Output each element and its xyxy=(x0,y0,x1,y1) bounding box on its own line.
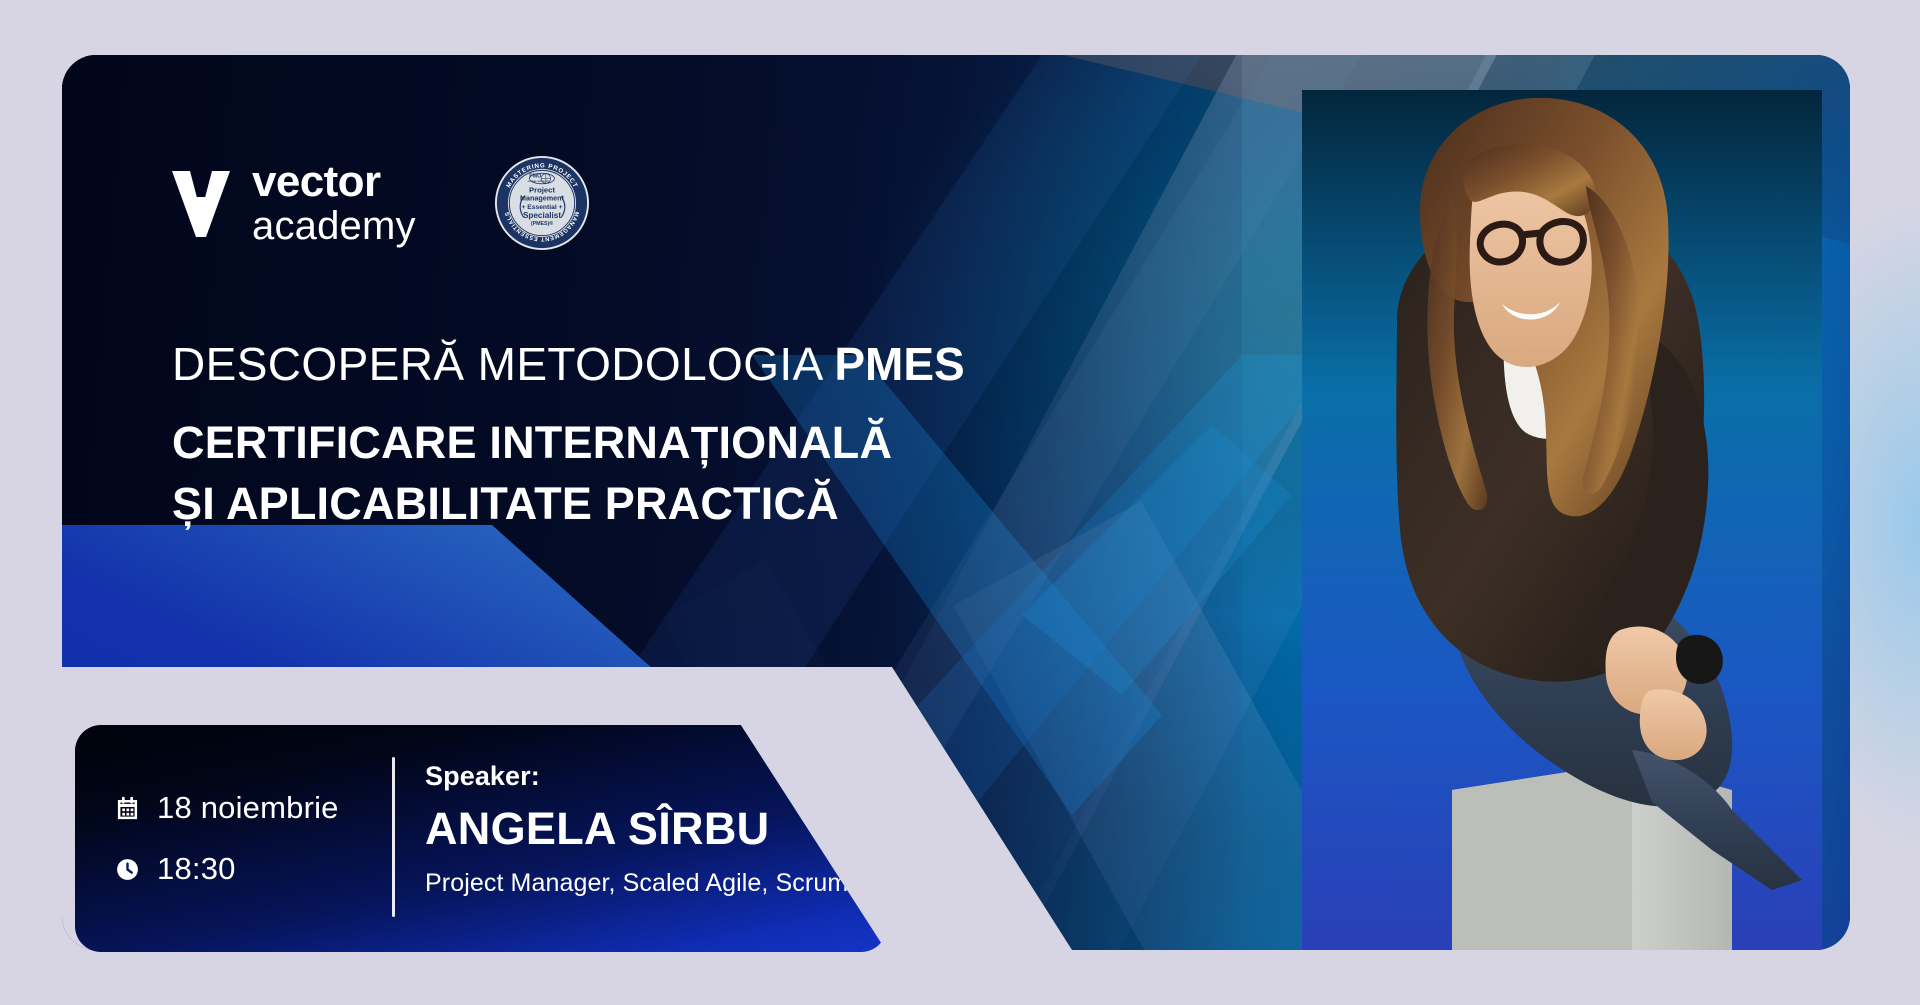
vector-academy-logo[interactable]: vector academy xyxy=(170,160,416,246)
headline-block: DESCOPERĂ METODOLOGIA PMES CERTIFICARE I… xyxy=(172,337,1132,530)
event-time-row: 18:30 xyxy=(115,844,339,894)
seal-org: PMO xyxy=(529,174,541,180)
event-date-row: 18 noiembrie xyxy=(115,783,339,833)
headline-line-3: ȘI APLICABILITATE PRACTICĂ xyxy=(172,478,1132,530)
vertical-divider xyxy=(392,757,395,917)
clock-icon xyxy=(115,857,140,882)
calendar-icon xyxy=(115,796,140,821)
event-date-text: 18 noiembrie xyxy=(157,790,339,826)
event-datetime-block: 18 noiembrie 18:30 xyxy=(115,783,339,894)
brand-line-2: academy xyxy=(252,206,416,246)
speaker-role: Project Manager, Scaled Agile, Scrum Mas… xyxy=(425,869,887,898)
seal-graphic: MASTERING PROJECT MANAGEMENT ESSENTIALS … xyxy=(494,155,590,251)
seal-line-5: (PMES)® xyxy=(531,220,553,227)
headline-line-2: CERTIFICARE INTERNAȚIONALĂ xyxy=(172,417,1132,469)
seal-line-3: + Essential + xyxy=(521,204,562,211)
brand-line-1: vector xyxy=(252,160,416,204)
seal-line-2: Management xyxy=(520,194,565,203)
event-time-text: 18:30 xyxy=(157,851,236,887)
headline-line-1-normal: DESCOPERĂ METODOLOGIA xyxy=(172,338,834,390)
header-logo-row: vector academy MASTERING PROJECT MANAGEM… xyxy=(170,155,590,251)
seal-line-1: Project xyxy=(529,185,555,194)
brand-wordmark: vector academy xyxy=(252,160,416,246)
seal-inner-org-logo: PMO GLOBAL INSTITUTE xyxy=(527,173,554,184)
seal-line-4: Specialist xyxy=(523,211,561,220)
headline-line-1: DESCOPERĂ METODOLOGIA PMES xyxy=(172,337,1132,391)
headline-line-1-bold: PMES xyxy=(834,338,964,390)
vector-v-logo-icon xyxy=(170,167,232,239)
pmes-certification-seal-icon: MASTERING PROJECT MANAGEMENT ESSENTIALS … xyxy=(494,155,590,251)
